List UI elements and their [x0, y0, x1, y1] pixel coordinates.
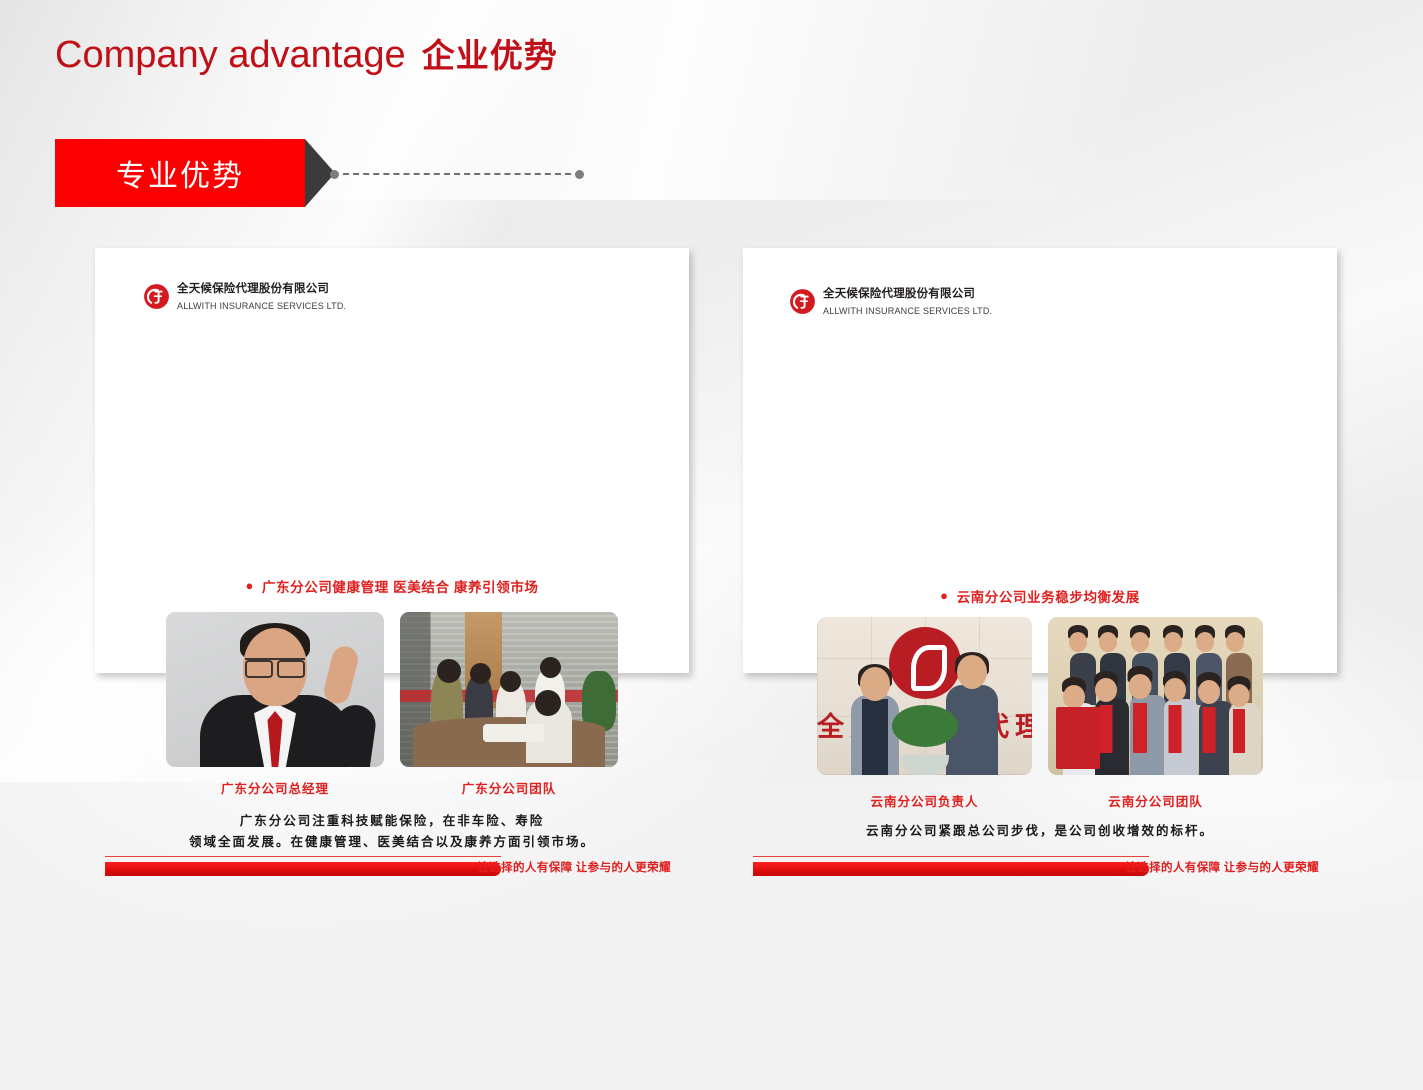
page-title-english: Company advantage — [55, 34, 406, 76]
card-headline-text: 广东分公司健康管理 医美结合 康养引领市场 — [262, 580, 539, 595]
footer-slogan: 让选择的人有保障 让参与的人更荣耀 — [477, 859, 671, 875]
connector-dot-end — [575, 170, 584, 179]
branch-team-group-photo — [1048, 617, 1263, 775]
photo-caption-manager: 广东分公司总经理 — [166, 778, 384, 797]
allwith-logo-icon — [789, 288, 816, 315]
red-award-flag — [1056, 707, 1100, 769]
connector-dashed-line — [330, 168, 584, 180]
footer-hairline — [753, 856, 1149, 857]
card-headline-guangdong: ●广东分公司健康管理 医美结合 康养引领市场 — [95, 576, 689, 596]
brand-logo-lockup: 全天候保险代理股份有限公司 ALLWITH INSURANCE SERVICES… — [143, 279, 346, 314]
footer-hairline — [105, 856, 501, 857]
footer-slogan: 让选择的人有保障 让参与的人更荣耀 — [1125, 859, 1319, 875]
card-headline-yunnan: ●云南分公司业务稳步均衡发展 — [743, 586, 1337, 606]
section-tab-label: 专业优势 — [116, 151, 244, 195]
connector-dot-start — [330, 170, 339, 179]
brand-name-english: ALLWITH INSURANCE SERVICES LTD. — [823, 306, 992, 316]
brand-name-english: ALLWITH INSURANCE SERVICES LTD. — [177, 301, 346, 311]
card-body-text: 广东分公司注重科技赋能保险，在非车险、寿险 领域全面发展。在健康管理、医美结合以… — [95, 811, 689, 854]
brand-name-chinese: 全天候保险代理股份有限公司 — [177, 283, 329, 295]
photo-caption-head: 云南分公司负责人 — [817, 791, 1032, 810]
section-tab-box: 专业优势 — [55, 139, 305, 207]
allwith-logo-icon — [143, 283, 170, 310]
connector-dashes — [343, 173, 571, 175]
card-body-line-2: 领域全面发展。在健康管理、医美结合以及康养方面引领市场。 — [95, 832, 689, 853]
footer-red-bar — [753, 862, 1149, 876]
card-photo-captions: 广东分公司总经理 广东分公司团队 — [95, 778, 689, 797]
card-body-line-1: 广东分公司注重科技赋能保险，在非车险、寿险 — [95, 811, 689, 832]
footer-red-bar — [105, 862, 501, 876]
card-body-text: 云南分公司紧跟总公司步伐，是公司创收增效的标杆。 — [743, 821, 1337, 842]
section-tab-banner[interactable]: 专业优势 — [55, 139, 335, 207]
photo-caption-team: 云南分公司团队 — [1048, 791, 1263, 810]
card-photo-captions: 云南分公司负责人 云南分公司团队 — [743, 791, 1337, 810]
card-photo-row: 全天候保险代理 — [743, 617, 1337, 775]
card-yunnan[interactable]: 全天候保险代理股份有限公司 ALLWITH INSURANCE SERVICES… — [743, 248, 1337, 673]
brand-logo-lockup: 全天候保险代理股份有限公司 ALLWITH INSURANCE SERVICES… — [789, 284, 992, 319]
bullet-icon: ● — [245, 578, 253, 593]
page-title: Company advantage企业优势 — [55, 36, 558, 74]
card-photo-row — [95, 612, 689, 767]
photo-caption-team: 广东分公司团队 — [400, 778, 618, 797]
card-guangdong[interactable]: 全天候保险代理股份有限公司 ALLWITH INSURANCE SERVICES… — [95, 248, 689, 673]
branch-team-meeting-photo — [400, 612, 618, 767]
card-body-line-1: 云南分公司紧跟总公司步伐，是公司创收增效的标杆。 — [743, 821, 1337, 842]
bullet-icon: ● — [940, 588, 948, 603]
page-title-chinese: 企业优势 — [422, 37, 558, 74]
branch-head-logo-wall-photo: 全天候保险代理 — [817, 617, 1032, 775]
branch-manager-portrait-photo — [166, 612, 384, 767]
brand-name-chinese: 全天候保险代理股份有限公司 — [823, 288, 975, 300]
card-headline-text: 云南分公司业务稳步均衡发展 — [957, 590, 1140, 605]
